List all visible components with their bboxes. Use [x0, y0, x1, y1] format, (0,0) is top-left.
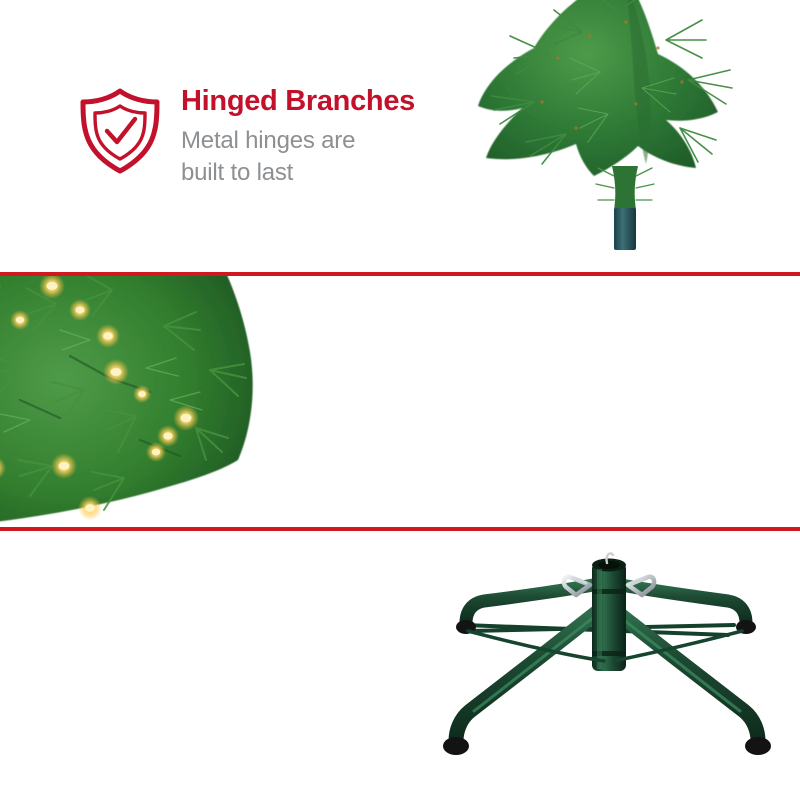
hinged-branches-description-line-2: built to last — [181, 157, 415, 189]
hinged-branches-title: Hinged Branches — [181, 86, 415, 116]
hinged-branches-description-line-1: Metal hinges are — [181, 125, 415, 157]
metal-tree-stand-photo — [398, 539, 798, 794]
hinged-branches-text-block: Hinged Branches Metal hinges are built t… — [181, 86, 415, 189]
pre-lit-christmas-tree-photo — [0, 276, 330, 527]
feature-panel-pvc-tips: PVC Tips Flame-retardant and easy to flu… — [0, 276, 800, 527]
artificial-christmas-tree-branch-photo — [430, 0, 800, 272]
feature-panel-sturdy-base: Sturdy Base A reliable metal stand for y… — [0, 531, 800, 800]
product-feature-infographic: Hinged Branches Metal hinges are built t… — [0, 0, 800, 800]
shield-check-icon — [76, 86, 164, 176]
hinged-branches-description: Metal hinges are built to last — [181, 125, 415, 188]
feature-panel-hinged-branches: Hinged Branches Metal hinges are built t… — [0, 0, 800, 272]
